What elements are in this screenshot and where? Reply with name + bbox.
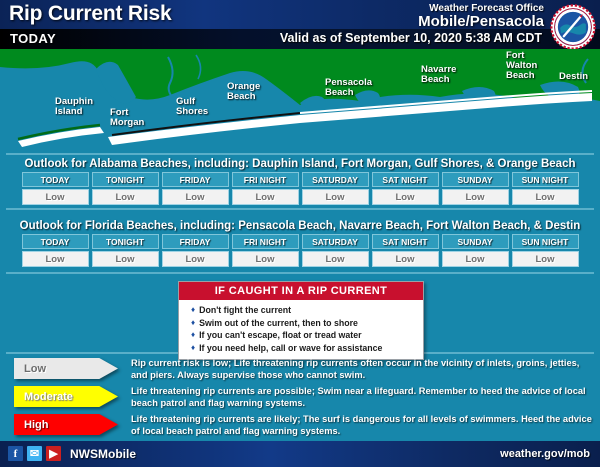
risk-cell: Low [512, 189, 579, 205]
risk-cell: Low [302, 189, 369, 205]
page-title: Rip Current Risk [9, 2, 172, 26]
risk-cell: Low [162, 251, 229, 267]
advice-item-text: If you need help, call or wave for assis… [199, 342, 382, 355]
advice-item-text: If you can't escape, float or tread wate… [199, 329, 361, 342]
map-label-gulf-shores: GulfShores [176, 97, 208, 117]
period-header: SUN NIGHT [512, 234, 579, 249]
outlook-florida: Outlook for Florida Beaches, including: … [0, 220, 600, 267]
advice-heading: IF CAUGHT IN A RIP CURRENT [179, 282, 423, 300]
diamond-bullet-icon: ♦ [191, 342, 195, 355]
diamond-bullet-icon: ♦ [191, 304, 195, 317]
risk-legend: Low Rip current risk is low; Life threat… [0, 358, 600, 442]
period-header: SAT NIGHT [372, 234, 439, 249]
outlook-alabama-title: Outlook for Alabama Beaches, including: … [0, 158, 600, 170]
legend-description-high: Life threatening rip currents are likely… [131, 414, 593, 437]
divider-bottom [6, 272, 594, 274]
divider-top [6, 153, 594, 155]
website-url[interactable]: weather.gov/mob [500, 448, 590, 460]
advice-item: ♦ If you need help, call or wave for ass… [191, 342, 423, 355]
map-label-fort-morgan: FortMorgan [110, 108, 144, 128]
diamond-bullet-icon: ♦ [191, 317, 195, 330]
rip-current-advice-box: IF CAUGHT IN A RIP CURRENT ♦ Don't fight… [178, 281, 424, 360]
legend-banner-moderate: Moderate [14, 386, 118, 407]
rip-current-risk-graphic: Rip Current Risk Weather Forecast Office… [0, 0, 600, 467]
period-header: SUNDAY [442, 234, 509, 249]
diamond-bullet-icon: ♦ [191, 329, 195, 342]
period-header: FRI NIGHT [232, 234, 299, 249]
period-header: SUNDAY [442, 172, 509, 187]
risk-cell: Low [22, 251, 89, 267]
period-header: TONIGHT [92, 172, 159, 187]
period-header: SAT NIGHT [372, 172, 439, 187]
outlook-florida-period-row: TODAY TONIGHT FRIDAY FRI NIGHT SATURDAY … [0, 234, 600, 249]
risk-cell: Low [232, 251, 299, 267]
facebook-icon[interactable]: f [8, 446, 23, 461]
outlook-florida-title: Outlook for Florida Beaches, including: … [0, 220, 600, 232]
risk-cell: Low [162, 189, 229, 205]
outlook-florida-risk-row: Low Low Low Low Low Low Low Low [0, 251, 600, 267]
map-label-navarre-beach: NavarreBeach [421, 65, 456, 85]
legend-row-high: High Life threatening rip currents are l… [0, 414, 600, 442]
outlook-alabama-period-row: TODAY TONIGHT FRIDAY FRI NIGHT SATURDAY … [0, 172, 600, 187]
risk-cell: Low [92, 189, 159, 205]
period-header: TONIGHT [92, 234, 159, 249]
office-name: Mobile/Pensacola [418, 13, 544, 30]
risk-cell: Low [232, 189, 299, 205]
legend-row-moderate: Moderate Life threatening rip currents a… [0, 386, 600, 414]
legend-banner-high: High [14, 414, 118, 435]
advice-item: ♦ Swim out of the current, then to shore [191, 317, 423, 330]
map-label-fort-walton-beach: FortWaltonBeach [506, 51, 537, 81]
risk-cell: Low [442, 251, 509, 267]
map-label-destin: Destin [559, 72, 588, 82]
legend-label-moderate: Moderate [24, 386, 73, 407]
risk-cell: Low [302, 251, 369, 267]
risk-cell: Low [512, 251, 579, 267]
risk-cell: Low [372, 251, 439, 267]
youtube-icon[interactable]: ▶ [46, 446, 61, 461]
period-header: FRIDAY [162, 172, 229, 187]
advice-list: ♦ Don't fight the current ♦ Swim out of … [179, 300, 423, 359]
risk-cell: Low [92, 251, 159, 267]
legend-description-moderate: Life threatening rip currents are possib… [131, 386, 593, 409]
coastal-map: DauphinIsland FortMorgan GulfShores Oran… [0, 49, 600, 149]
period-header: TODAY [22, 172, 89, 187]
legend-description-low: Rip current risk is low; Life threatenin… [131, 358, 593, 381]
today-label: TODAY [10, 31, 56, 46]
period-header: SATURDAY [302, 172, 369, 187]
divider-middle [6, 208, 594, 210]
map-label-orange-beach: OrangeBeach [227, 82, 260, 102]
outlook-alabama-risk-row: Low Low Low Low Low Low Low Low [0, 189, 600, 205]
valid-timestamp: Valid as of September 10, 2020 5:38 AM C… [280, 31, 542, 45]
risk-cell: Low [22, 189, 89, 205]
legend-row-low: Low Rip current risk is low; Life threat… [0, 358, 600, 386]
map-label-pensacola-beach: PensacolaBeach [325, 78, 372, 98]
risk-cell: Low [372, 189, 439, 205]
period-header: FRIDAY [162, 234, 229, 249]
risk-cell: Low [442, 189, 509, 205]
advice-item-text: Swim out of the current, then to shore [199, 317, 358, 330]
legend-banner-low: Low [14, 358, 118, 379]
advice-item-text: Don't fight the current [199, 304, 291, 317]
advice-item: ♦ If you can't escape, float or tread wa… [191, 329, 423, 342]
twitter-icon[interactable]: ✉ [27, 446, 42, 461]
advice-item: ♦ Don't fight the current [191, 304, 423, 317]
outlook-alabama: Outlook for Alabama Beaches, including: … [0, 158, 600, 205]
legend-label-high: High [24, 414, 48, 435]
legend-label-low: Low [24, 358, 46, 379]
period-header: FRI NIGHT [232, 172, 299, 187]
social-icon-group: f ✉ ▶ [8, 446, 61, 461]
map-label-dauphin-island: DauphinIsland [55, 97, 93, 117]
period-header: TODAY [22, 234, 89, 249]
period-header: SATURDAY [302, 234, 369, 249]
period-header: SUN NIGHT [512, 172, 579, 187]
nws-seal-icon [550, 4, 596, 50]
social-handle[interactable]: NWSMobile [70, 447, 136, 461]
